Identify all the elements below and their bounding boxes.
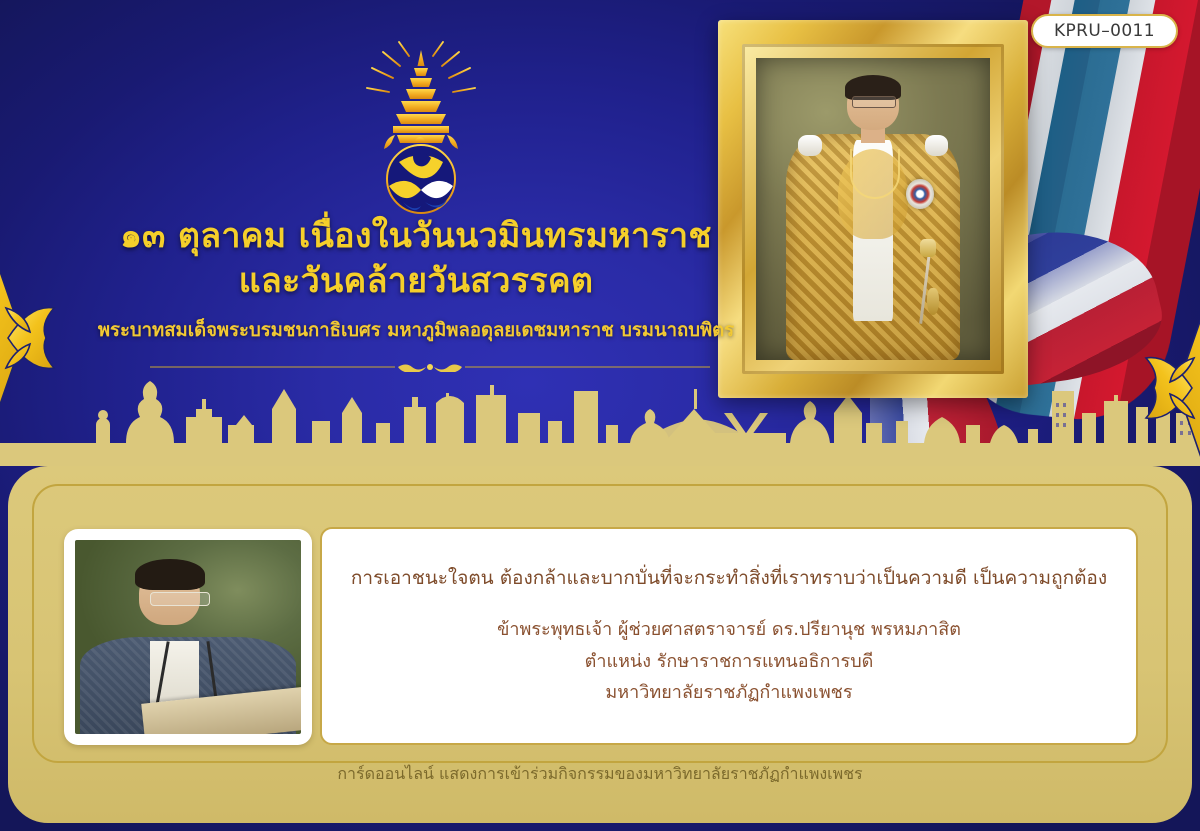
message-card: การเอาชนะใจตน ต้องกล้าและบากบั่นที่จะกระ… [320,527,1138,745]
royal-cypher-emblem-icon [355,34,487,224]
signer-position: ตำแหน่ง รักษาราชการแทนอธิการบดี [585,646,874,678]
card-id-badge: KPRU–0011 [1031,14,1178,48]
footer-text: การ์ดออนไลน์ แสดงการเข้าร่วมกิจกรรมของมห… [0,762,1200,787]
content-photo [64,529,312,745]
page-title-line-2: และวันคล้ายวันสวรรคต [0,259,832,304]
page-subtitle: พระบาทสมเด็จพระบรมชนกาธิเบศร มหาภูมิพลอด… [0,316,832,345]
signer-name: ข้าพระพุทธเจ้า ผู้ช่วยศาสตราจารย์ ดร.ปรี… [497,614,961,646]
gold-divider-flourish-icon [150,362,710,372]
signer-organization: มหาวิทยาลัยราชภัฏกำแพงเพชร [605,677,852,709]
commemorative-card: KPRU–0011 [0,0,1200,831]
header-text-block: ๑๓ ตุลาคม เนื่องในวันนวมินทรมหาราช และวั… [0,214,832,345]
quote-text: การเอาชนะใจตน ต้องกล้าและบากบั่นที่จะกระ… [351,564,1107,593]
page-title-line-1: ๑๓ ตุลาคม เนื่องในวันนวมินทรมหาราช [0,214,832,259]
content-photo-image [75,540,301,734]
thai-gold-ornament-right-icon [1102,288,1200,488]
